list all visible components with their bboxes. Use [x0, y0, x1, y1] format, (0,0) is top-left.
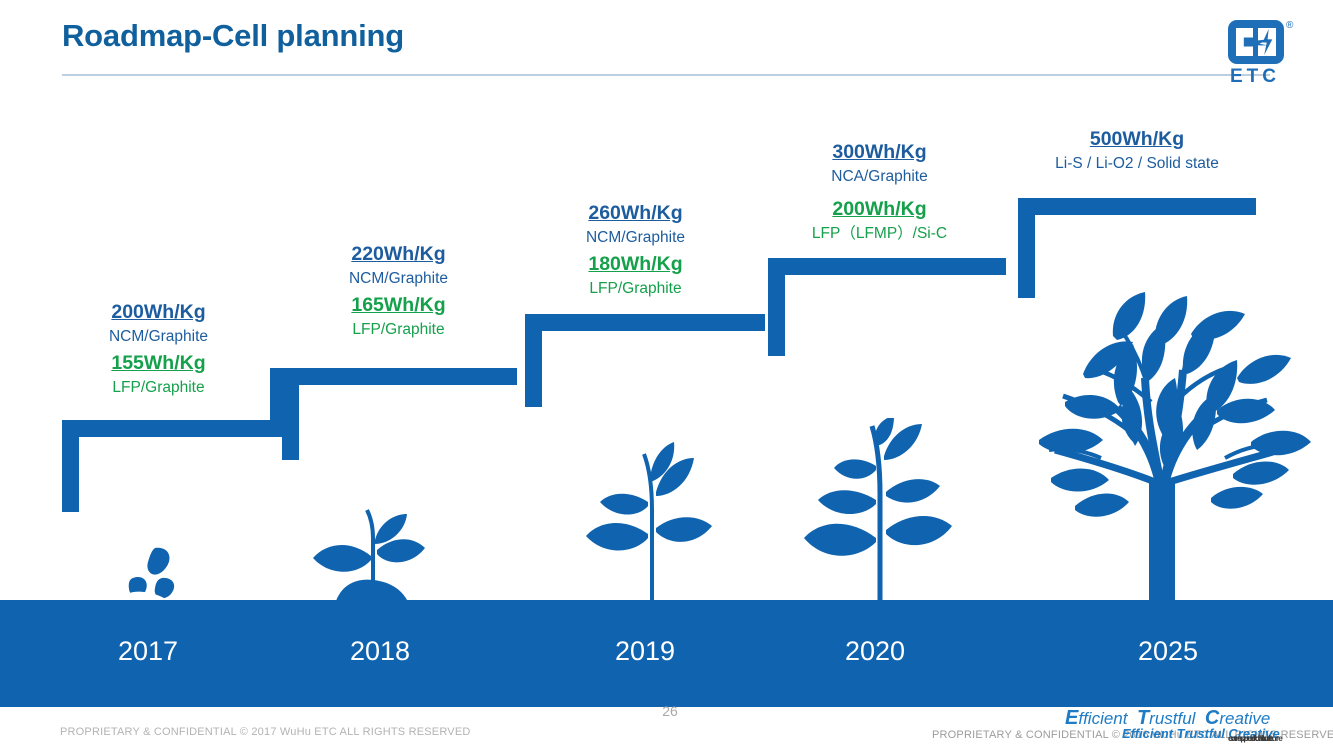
- stair-riser-2017-down: [62, 420, 79, 512]
- chemistry-primary-2025: Li-S / Li-O2 / Solid state: [1007, 153, 1267, 175]
- energy-density-primary-2025: 500Wh/Kg: [1007, 125, 1267, 153]
- footer-overlap-layer2: ear-speed/culture: [1228, 733, 1272, 743]
- stair-riser-2018-2019: [525, 314, 542, 407]
- stage-labels-2017: 200Wh/Kg NCM/Graphite 155Wh/Kg LFP/Graph…: [36, 298, 281, 399]
- stair-tread-2018: [282, 368, 517, 385]
- chemistry-secondary-2019: LFP/Graphite: [513, 278, 758, 300]
- chemistry-primary-2019: NCM/Graphite: [513, 227, 758, 249]
- stage-labels-2020: 300Wh/Kg NCA/Graphite 200Wh/Kg LFP（LFMP）…: [757, 138, 1002, 245]
- etc-logo: ® ETC: [1218, 20, 1298, 90]
- chemistry-secondary-2020: LFP（LFMP）/Si-C: [757, 223, 1002, 245]
- stair-tread-2025: [1018, 198, 1256, 215]
- energy-density-primary-2019: 260Wh/Kg: [513, 199, 758, 227]
- title-divider: [62, 74, 1270, 76]
- energy-density-secondary-2017: 155Wh/Kg: [36, 349, 281, 377]
- year-label-2017: 2017: [78, 636, 218, 667]
- energy-density-primary-2020: 300Wh/Kg: [757, 138, 1002, 166]
- energy-density-secondary-2018: 165Wh/Kg: [276, 291, 521, 319]
- page-title: Roadmap-Cell planning: [62, 18, 404, 54]
- chemistry-secondary-2017: LFP/Graphite: [36, 377, 281, 399]
- etc-logo-mark-icon: [1228, 20, 1284, 64]
- stage-labels-2025: 500Wh/Kg Li-S / Li-O2 / Solid state: [1007, 125, 1267, 176]
- stage-labels-2019: 260Wh/Kg NCM/Graphite 180Wh/Kg LFP/Graph…: [513, 199, 758, 300]
- tagline-word-efficient: fficient: [1078, 709, 1127, 728]
- energy-density-primary-2018: 220Wh/Kg: [276, 240, 521, 268]
- registered-mark: ®: [1286, 20, 1293, 31]
- seedling-icon: [305, 500, 445, 610]
- chemistry-secondary-2018: LFP/Graphite: [276, 319, 521, 341]
- copyright-notice-left: PROPRIETARY & CONFIDENTIAL © 2017 WuHu E…: [60, 726, 471, 738]
- chemistry-primary-2020: NCA/Graphite: [757, 166, 1002, 188]
- logo-left-glyph-icon: [1236, 28, 1253, 56]
- stair-tread-2019: [525, 314, 765, 331]
- tagline-initial-e: E: [1065, 707, 1078, 729]
- page-number: 26: [640, 703, 700, 719]
- tree-icon: [1005, 282, 1320, 604]
- energy-density-secondary-2019: 180Wh/Kg: [513, 250, 758, 278]
- energy-density-secondary-2020: 200Wh/Kg: [757, 195, 1002, 223]
- stair-tread-2020: [768, 258, 1006, 275]
- stair-riser-2019-down: [525, 314, 542, 406]
- year-label-2019: 2019: [575, 636, 715, 667]
- stair-tread-2017: [62, 420, 287, 437]
- year-label-2025: 2025: [1098, 636, 1238, 667]
- footer-overlap-text: ear-speed/culture ear-speed/culture: [1228, 733, 1282, 743]
- chemistry-primary-2018: NCM/Graphite: [276, 268, 521, 290]
- energy-density-primary-2017: 200Wh/Kg: [36, 298, 281, 326]
- year-label-2018: 2018: [310, 636, 450, 667]
- stair-riser-2019-2020: [768, 258, 785, 356]
- young-plant-icon: [578, 440, 728, 605]
- growing-plant-icon: [800, 418, 960, 608]
- year-label-2020: 2020: [805, 636, 945, 667]
- stage-labels-2018: 220Wh/Kg NCM/Graphite 165Wh/Kg LFP/Graph…: [276, 240, 521, 341]
- logo-wordmark: ETC: [1230, 66, 1280, 88]
- stair-riser-2018-down: [282, 368, 299, 460]
- chemistry-primary-2017: NCM/Graphite: [36, 326, 281, 348]
